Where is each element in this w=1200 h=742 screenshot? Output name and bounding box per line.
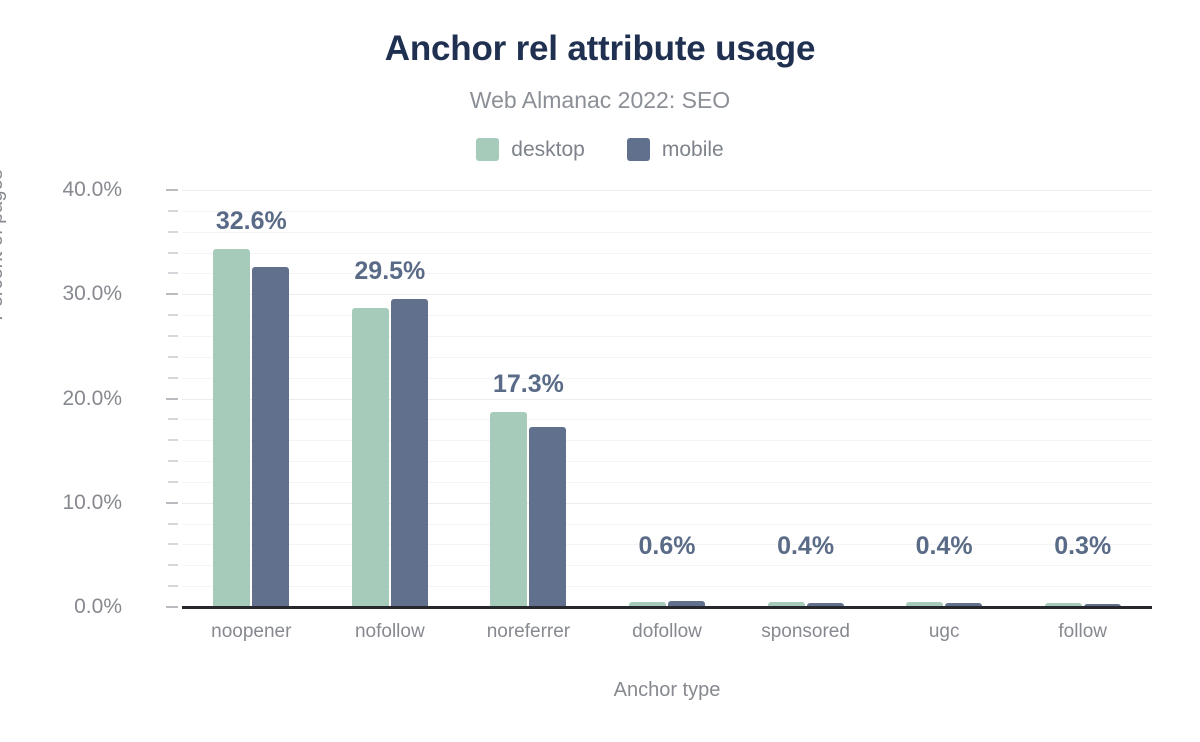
bar-noopener-mobile[interactable]: [252, 267, 289, 607]
chart-title: Anchor rel attribute usage: [0, 28, 1200, 70]
bar-value-label: 0.3%: [983, 532, 1183, 560]
y-axis-tick-mark: [168, 543, 178, 545]
legend-swatch-mobile: [627, 138, 650, 161]
bar-noreferrer-desktop[interactable]: [490, 412, 527, 607]
legend-item-mobile[interactable]: mobile: [627, 138, 724, 161]
bar-group: [490, 190, 566, 607]
y-axis-tick-label: 20.0%: [0, 388, 122, 410]
y-axis-tick-mark: [168, 585, 178, 587]
legend-label-mobile: mobile: [662, 138, 724, 161]
y-axis-tick-mark: [168, 481, 178, 483]
x-axis-baseline: [182, 606, 1152, 609]
bar-group: [352, 190, 428, 607]
y-axis-tick-mark: [166, 189, 178, 191]
bar-nofollow-desktop[interactable]: [352, 308, 389, 607]
y-axis-tick-label: 10.0%: [0, 492, 122, 514]
bar-group: [213, 190, 289, 607]
bar-noopener-desktop[interactable]: [213, 249, 250, 607]
y-axis-tick-mark: [168, 439, 178, 441]
bar-nofollow-mobile[interactable]: [391, 299, 428, 607]
y-axis-tick-mark: [168, 356, 178, 358]
y-axis-tick-mark: [168, 314, 178, 316]
y-axis-tick-mark: [168, 460, 178, 462]
y-axis-tick-mark: [168, 377, 178, 379]
chart-container: Anchor rel attribute usage Web Almanac 2…: [0, 0, 1200, 742]
bar-noreferrer-mobile[interactable]: [529, 427, 566, 607]
x-axis-title: Anchor type: [182, 678, 1152, 702]
y-axis-tick-mark: [168, 523, 178, 525]
y-axis-tick-mark: [168, 564, 178, 566]
y-axis-tick-mark: [166, 502, 178, 504]
y-axis-tick-mark: [168, 272, 178, 274]
y-axis-tick-mark: [166, 606, 178, 608]
legend-item-desktop[interactable]: desktop: [476, 138, 585, 161]
bar-value-label: 32.6%: [151, 207, 351, 235]
chart-subtitle: Web Almanac 2022: SEO: [0, 86, 1200, 114]
y-axis-tick-mark: [166, 398, 178, 400]
legend-label-desktop: desktop: [511, 138, 585, 161]
chart-legend: desktop mobile: [0, 138, 1200, 161]
legend-swatch-desktop: [476, 138, 499, 161]
bar-value-label: 17.3%: [428, 370, 628, 398]
y-axis-tick-mark: [168, 252, 178, 254]
y-axis-title: Percent of pages: [0, 95, 7, 395]
y-axis-tick-label: 30.0%: [0, 283, 122, 305]
y-axis-tick-mark: [168, 335, 178, 337]
x-axis-tick-label-follow: follow: [973, 620, 1193, 644]
y-axis-tick-label: 0.0%: [0, 596, 122, 618]
y-axis-tick-label: 40.0%: [0, 179, 122, 201]
bar-value-label: 29.5%: [290, 257, 490, 285]
y-axis-tick-mark: [166, 293, 178, 295]
y-axis-tick-mark: [168, 418, 178, 420]
